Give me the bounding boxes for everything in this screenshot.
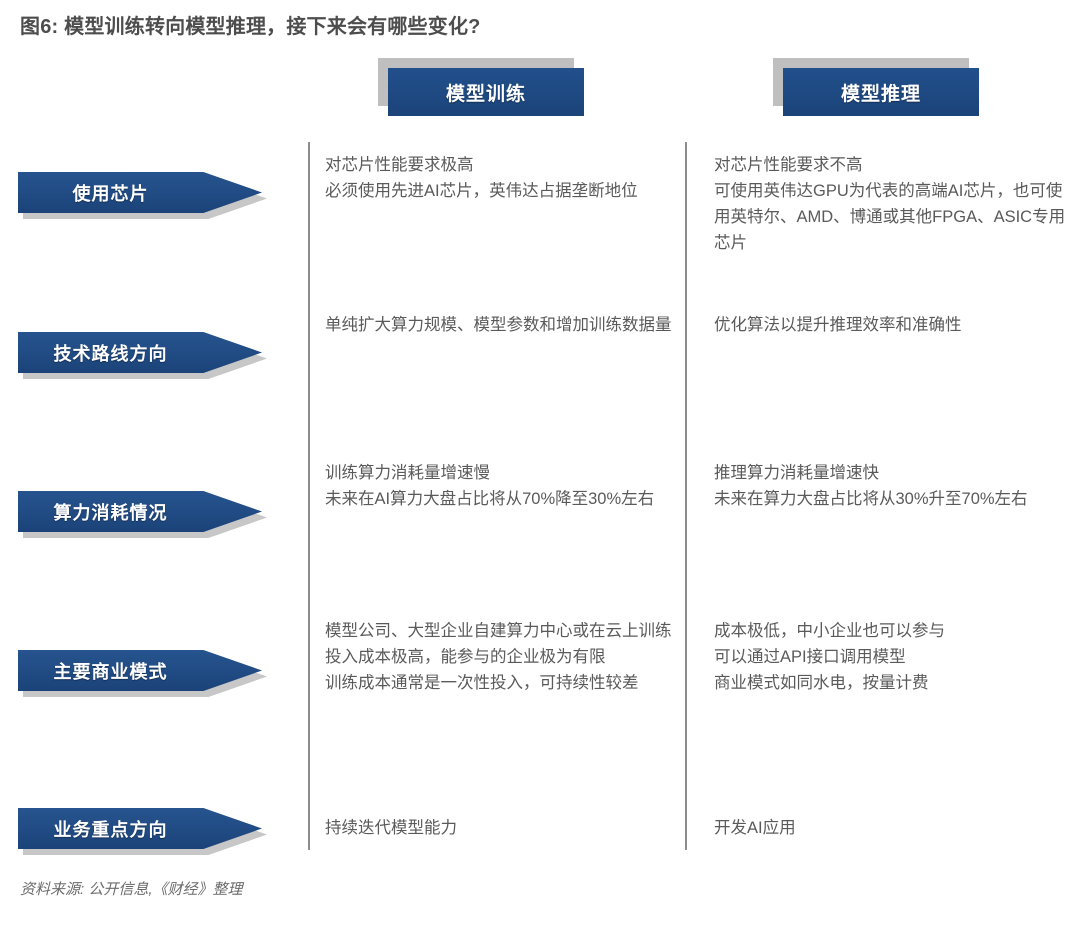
column-header-label: 模型训练 bbox=[446, 79, 526, 106]
row-label-text: 业务重点方向 bbox=[18, 808, 203, 849]
column-header-box: 模型推理 bbox=[783, 68, 979, 116]
row-label-text: 技术路线方向 bbox=[18, 332, 203, 373]
cell-training-tech-route: 单纯扩大算力规模、模型参数和增加训练数据量 bbox=[325, 312, 675, 338]
cell-training-business-model: 模型公司、大型企业自建算力中心或在云上训练 投入成本极高，能参与的企业极为有限 … bbox=[325, 618, 675, 696]
column-header-label: 模型推理 bbox=[841, 79, 921, 106]
row-label-text: 主要商业模式 bbox=[18, 650, 203, 691]
column-header-inference: 模型推理 bbox=[783, 68, 979, 116]
column-header-training: 模型训练 bbox=[388, 68, 584, 116]
row-label-compute-consumption: 算力消耗情况 bbox=[18, 491, 262, 532]
column-divider-left bbox=[308, 142, 310, 850]
row-label-text: 算力消耗情况 bbox=[18, 491, 203, 532]
cell-inference-tech-route: 优化算法以提升推理效率和准确性 bbox=[714, 312, 1074, 338]
cell-inference-business-model: 成本极低，中小企业也可以参与 可以通过API接口调用模型 商业模式如同水电，按量… bbox=[714, 618, 1074, 696]
source-note: 资料来源: 公开信息,《财经》整理 bbox=[20, 878, 243, 899]
row-label-business-model: 主要商业模式 bbox=[18, 650, 262, 691]
cell-training-compute-consumption: 训练算力消耗量增速慢 未来在AI算力大盘占比将从70%降至30%左右 bbox=[325, 460, 675, 512]
column-divider-right bbox=[685, 142, 687, 850]
row-label-business-focus: 业务重点方向 bbox=[18, 808, 262, 849]
row-label-tech-route: 技术路线方向 bbox=[18, 332, 262, 373]
row-label-chips: 使用芯片 bbox=[18, 172, 262, 213]
cell-inference-chips: 对芯片性能要求不高 可使用英伟达GPU为代表的高端AI芯片，也可使用英特尔、AM… bbox=[714, 152, 1074, 256]
cell-inference-compute-consumption: 推理算力消耗量增速快 未来在算力大盘占比将从30%升至70%左右 bbox=[714, 460, 1074, 512]
cell-training-business-focus: 持续迭代模型能力 bbox=[325, 815, 675, 841]
cell-training-chips: 对芯片性能要求极高 必须使用先进AI芯片，英伟达占据垄断地位 bbox=[325, 152, 675, 204]
cell-inference-business-focus: 开发AI应用 bbox=[714, 815, 1074, 841]
column-header-box: 模型训练 bbox=[388, 68, 584, 116]
row-label-text: 使用芯片 bbox=[18, 172, 203, 213]
page-title: 图6: 模型训练转向模型推理，接下来会有哪些变化? bbox=[20, 10, 481, 39]
